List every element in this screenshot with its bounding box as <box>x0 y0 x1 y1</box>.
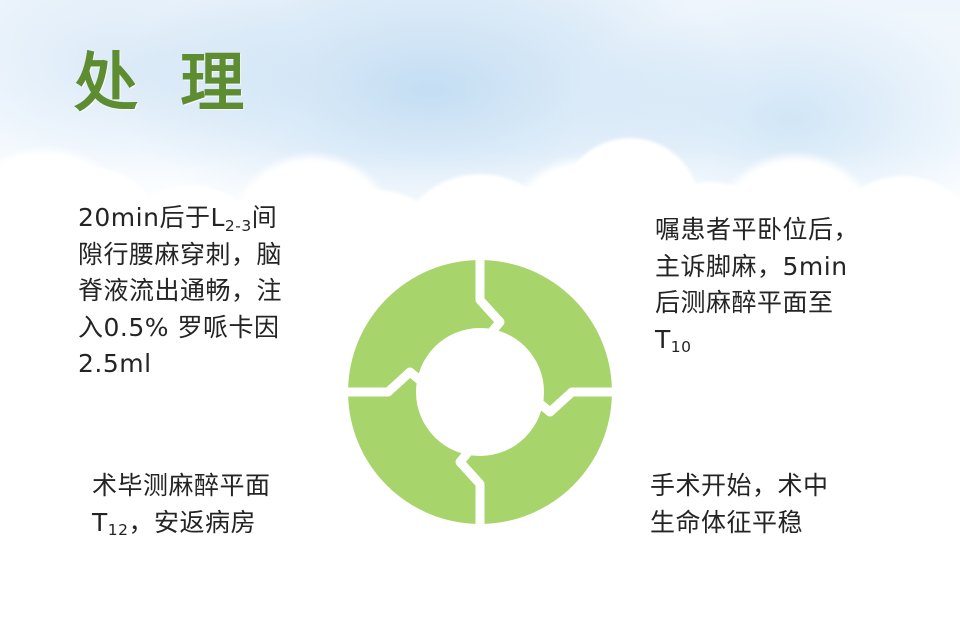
step-line: 术毕测麻醉平面 <box>92 471 271 500</box>
step-line: 脊液流出通畅，注 <box>78 276 282 305</box>
step-line: T <box>655 325 671 354</box>
step-line: 隙行腰麻穿刺，脑 <box>78 240 282 269</box>
step-line: 20min后于L <box>78 203 225 232</box>
subscript: 12 <box>108 521 129 539</box>
step-line: 嘱患者平卧位后， <box>655 215 859 244</box>
step-line-tail: ，安返病房 <box>129 508 257 537</box>
subscript: 10 <box>671 338 692 356</box>
step-line: 入0.5% 罗哌卡因 <box>78 313 279 342</box>
donut-ring <box>348 260 612 524</box>
subscript: 2-3 <box>225 217 252 235</box>
process-donut-diagram <box>348 260 612 524</box>
step-line: 后测麻醉平面至 <box>655 288 834 317</box>
step-line: T <box>92 508 108 537</box>
slide-canvas: 处 理 <box>0 0 960 639</box>
step-line: 生命体征平稳 <box>650 508 803 537</box>
step-line: 2.5ml <box>78 349 152 378</box>
page-title: 处 理 <box>74 52 254 116</box>
step-text-bottom-right: 手术开始，术中 生命体征平稳 <box>650 468 900 541</box>
step-line: 手术开始，术中 <box>650 471 829 500</box>
step-line: 主诉脚麻，5min <box>655 252 848 281</box>
step-text-bottom-left: 术毕测麻醉平面 T12，安返病房 <box>92 468 342 541</box>
step-line-tail: 间 <box>252 203 278 232</box>
step-text-top-right: 嘱患者平卧位后， 主诉脚麻，5min 后测麻醉平面至 T10 <box>655 212 900 358</box>
step-text-top-left: 20min后于L2-3间 隙行腰麻穿刺，脑 脊液流出通畅，注 入0.5% 罗哌卡… <box>78 200 323 383</box>
